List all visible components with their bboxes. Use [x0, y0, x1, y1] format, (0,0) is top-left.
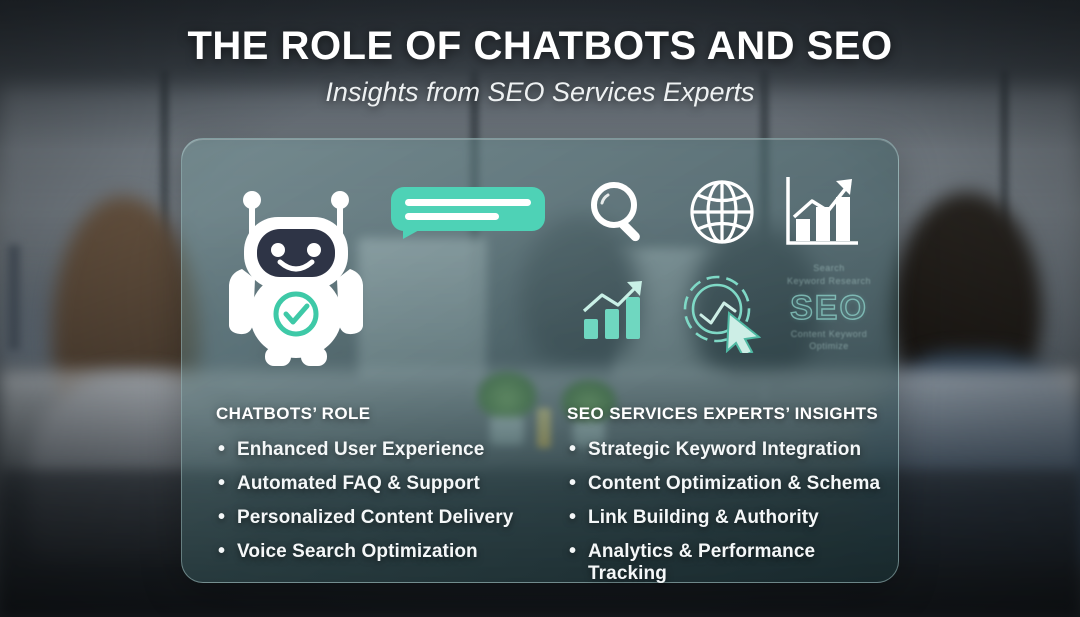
bar-chart-arrow-icon: [580, 279, 652, 341]
growth-chart-icon: [782, 173, 860, 251]
chat-bubble-icon: [391, 187, 545, 239]
bullet-list-left: Enhanced User Experience Automated FAQ &…: [206, 439, 536, 563]
column-heading-left: CHATBOTS’ ROLE: [206, 404, 536, 424]
list-item: Strategic Keyword Integration: [567, 439, 887, 461]
seo-blur-line-1: Search: [769, 263, 889, 273]
header: THE ROLE OF CHATBOTS AND SEO Insights fr…: [0, 24, 1080, 108]
page-title: THE ROLE OF CHATBOTS AND SEO: [0, 24, 1080, 69]
list-item: Analytics & Performance Tracking: [567, 541, 887, 585]
globe-icon: [687, 177, 757, 247]
column-heading-right: SEO SERVICES EXPERTS’ INSIGHTS: [567, 404, 887, 424]
seo-wordmark: Search Keyword Research SEO Content Keyw…: [769, 257, 889, 357]
list-item: Content Optimization & Schema: [567, 473, 887, 495]
bullet-list-right: Strategic Keyword Integration Content Op…: [567, 439, 887, 585]
infographic-canvas: THE ROLE OF CHATBOTS AND SEO Insights fr…: [0, 0, 1080, 617]
search-magnifier-icon: [587, 179, 653, 245]
glass-content-panel: Search Keyword Research SEO Content Keyw…: [181, 138, 899, 583]
seo-blur-line-3: Content Keyword: [769, 329, 889, 339]
page-subtitle: Insights from SEO Services Experts: [0, 77, 1080, 108]
list-item: Enhanced User Experience: [216, 439, 536, 461]
column-chatbots-role: CHATBOTS’ ROLE Enhanced User Experience …: [206, 404, 536, 575]
seo-blur-line-4: Optimize: [769, 341, 889, 351]
list-item: Voice Search Optimization: [216, 541, 536, 563]
list-item: Automated FAQ & Support: [216, 473, 536, 495]
list-item: Personalized Content Delivery: [216, 507, 536, 529]
list-item: Link Building & Authority: [567, 507, 887, 529]
column-seo-insights: SEO SERVICES EXPERTS’ INSIGHTS Strategic…: [567, 404, 887, 597]
chatbot-robot-mascot: [216, 177, 376, 367]
seo-word: SEO: [769, 289, 889, 328]
seo-blur-line-2: Keyword Research: [769, 276, 889, 286]
analytics-cursor-icon: [679, 271, 761, 353]
